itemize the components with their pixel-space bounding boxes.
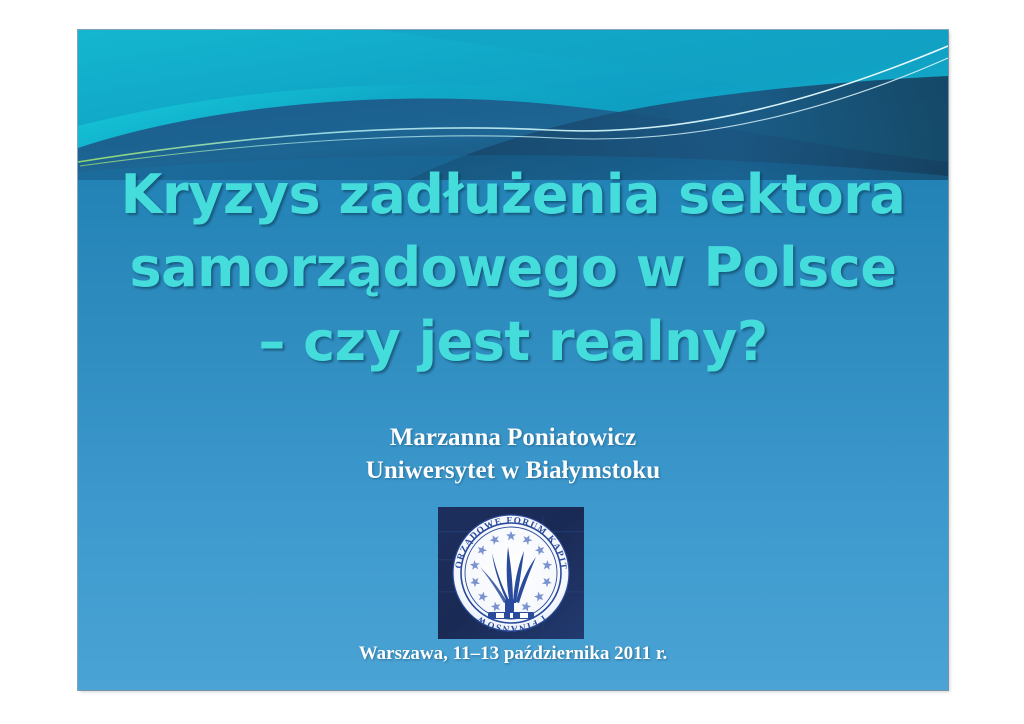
author-block: Marzanna Poniatowicz Uniwersytet w Biały… [118, 422, 908, 487]
organization-logo: SAMORZĄDOWE FORUM KAPITAŁU I FINANSÓW [438, 507, 584, 639]
author-affiliation: Uniwersytet w Białymstoku [118, 455, 908, 488]
venue-block: Warszawa, 11–13 października 2011 r. [118, 643, 908, 665]
page-title: Kryzys zadłużenia sektora samorządowego … [118, 158, 908, 378]
title-line-3: – czy jest realny? [118, 305, 908, 378]
logo-graphic: SAMORZĄDOWE FORUM KAPITAŁU I FINANSÓW [438, 507, 584, 639]
title-line-2: samorządowego w Polsce [118, 231, 908, 304]
venue-date: Warszawa, 11–13 października 2011 r. [118, 643, 908, 665]
slide-page: Kryzys zadłużenia sektora samorządowego … [0, 0, 1024, 724]
title-line-1: Kryzys zadłużenia sektora [118, 158, 908, 231]
author-name: Marzanna Poniatowicz [118, 422, 908, 455]
presentation-slide: Kryzys zadłużenia sektora samorządowego … [78, 30, 948, 690]
